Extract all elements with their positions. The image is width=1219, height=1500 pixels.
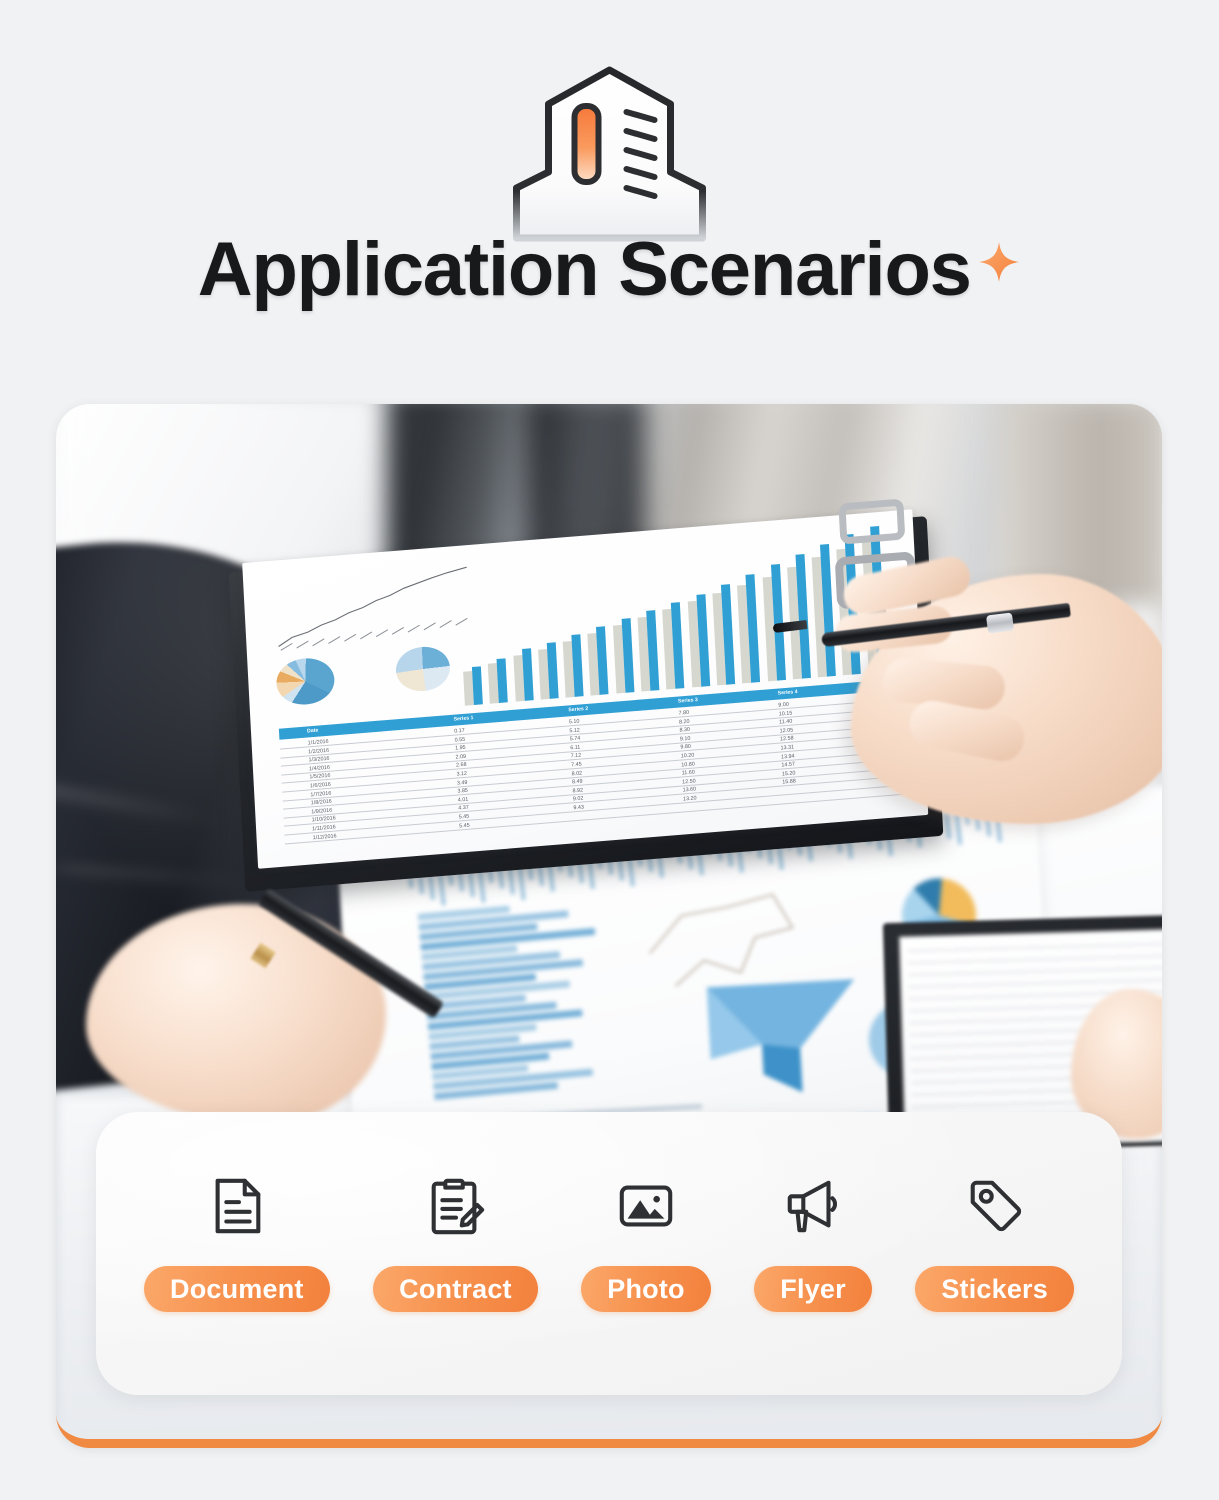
person-hand-left — [86, 884, 466, 1144]
report-table-cell: 5.74 — [570, 735, 581, 744]
report-table-cell: 0.17 — [454, 727, 465, 736]
paper-tick — [478, 870, 486, 903]
scenario-tag-photo[interactable]: Photo — [581, 1168, 710, 1312]
report-table-cell: 8.20 — [679, 717, 690, 726]
building-icon — [502, 62, 717, 242]
report-table-header-cell: Date — [307, 726, 319, 738]
tag-label-contract[interactable]: Contract — [373, 1266, 538, 1312]
report-table-cell: 9.80 — [680, 743, 691, 752]
report-bar-blue — [497, 658, 508, 703]
report-table-cell: 7.12 — [571, 752, 582, 761]
report-table-cell: 4.01 — [458, 796, 469, 805]
header-section: Application Scenarios — [0, 0, 1219, 390]
scenario-tag-flyer[interactable]: Flyer — [754, 1168, 872, 1312]
report-table-cell: 1/12/2016 — [312, 832, 336, 842]
report-table-cell: 5.45 — [459, 813, 470, 822]
suit-fold — [56, 773, 225, 829]
report-table-cell: 4.37 — [458, 804, 469, 813]
report-table-cell: 3.49 — [457, 778, 468, 787]
page-title: Application Scenarios — [198, 232, 971, 308]
paper-rule-line — [908, 967, 1162, 975]
report-table-header-cell: Series 1 — [453, 713, 473, 726]
report-table-cell: 3.12 — [456, 770, 467, 779]
report-table-cell: 1.95 — [455, 744, 466, 753]
report-table-header-cell: Series 3 — [678, 695, 698, 708]
report-table-cell: 7.45 — [571, 761, 582, 770]
title-row: Application Scenarios — [0, 232, 1219, 308]
report-bar-blue — [472, 666, 483, 705]
report-table-cell: 8.30 — [679, 726, 690, 735]
scenario-tag-stickers[interactable]: Stickers — [915, 1168, 1074, 1312]
scenario-tag-contract[interactable]: Contract — [373, 1168, 538, 1312]
image-icon — [608, 1168, 684, 1244]
paper-tick — [518, 865, 526, 900]
sparkle-icon — [977, 240, 1021, 284]
report-table-cell: 9.00 — [778, 701, 789, 710]
person-hand-right — [791, 532, 1162, 862]
report-table-cell: 3.85 — [457, 787, 468, 796]
price-tag-icon — [957, 1168, 1033, 1244]
paper-funnel-chart — [700, 973, 866, 1102]
report-bar-blue — [572, 634, 584, 697]
megaphone-icon — [775, 1168, 851, 1244]
scenario-tag-document[interactable]: Document — [144, 1168, 330, 1312]
clipboard-pencil-icon — [417, 1168, 493, 1244]
report-table-header-cell: Series 2 — [568, 704, 588, 717]
document-icon — [199, 1168, 275, 1244]
report-bar-blue — [547, 642, 559, 699]
tag-label-flyer[interactable]: Flyer — [754, 1266, 872, 1312]
report-table-cell: 8.92 — [572, 786, 583, 795]
report-table-cell: 8.49 — [572, 778, 583, 787]
tag-label-document[interactable]: Document — [144, 1266, 330, 1312]
report-pie-chart — [395, 645, 451, 693]
report-pie-chart — [275, 656, 335, 707]
report-table-cell: 2.68 — [456, 761, 467, 770]
report-bar-blue — [522, 648, 534, 701]
report-table-cell: 5.45 — [459, 821, 470, 830]
report-table-cell: 7.80 — [678, 709, 689, 718]
tag-label-photo[interactable]: Photo — [581, 1266, 710, 1312]
report-line-chart — [271, 562, 489, 655]
report-table-cell: 9.43 — [573, 803, 584, 812]
paper-tick — [468, 871, 475, 897]
report-table-cell: 9.02 — [573, 795, 584, 804]
report-table-cell: 9.10 — [680, 735, 691, 744]
paper-rule-line — [908, 955, 1162, 963]
pen-ring — [986, 612, 1014, 633]
scenario-tag-row: Document Contract — [96, 1168, 1122, 1312]
report-table-cell: 5.10 — [569, 718, 580, 727]
report-table-cell: 5.12 — [569, 726, 580, 735]
report-table-cell: 0.55 — [455, 735, 466, 744]
report-table-cell: 6.11 — [570, 743, 580, 752]
paper-rule-line — [908, 943, 1162, 951]
report-table-cell: 8.02 — [571, 769, 582, 778]
report-table-cell: 11.60 — [682, 769, 695, 778]
tag-label-stickers[interactable]: Stickers — [915, 1266, 1074, 1312]
report-table-cell: 2.09 — [455, 753, 466, 762]
paper-rule-line — [909, 979, 1162, 987]
scenario-tag-panel: Document Contract — [96, 1112, 1122, 1395]
